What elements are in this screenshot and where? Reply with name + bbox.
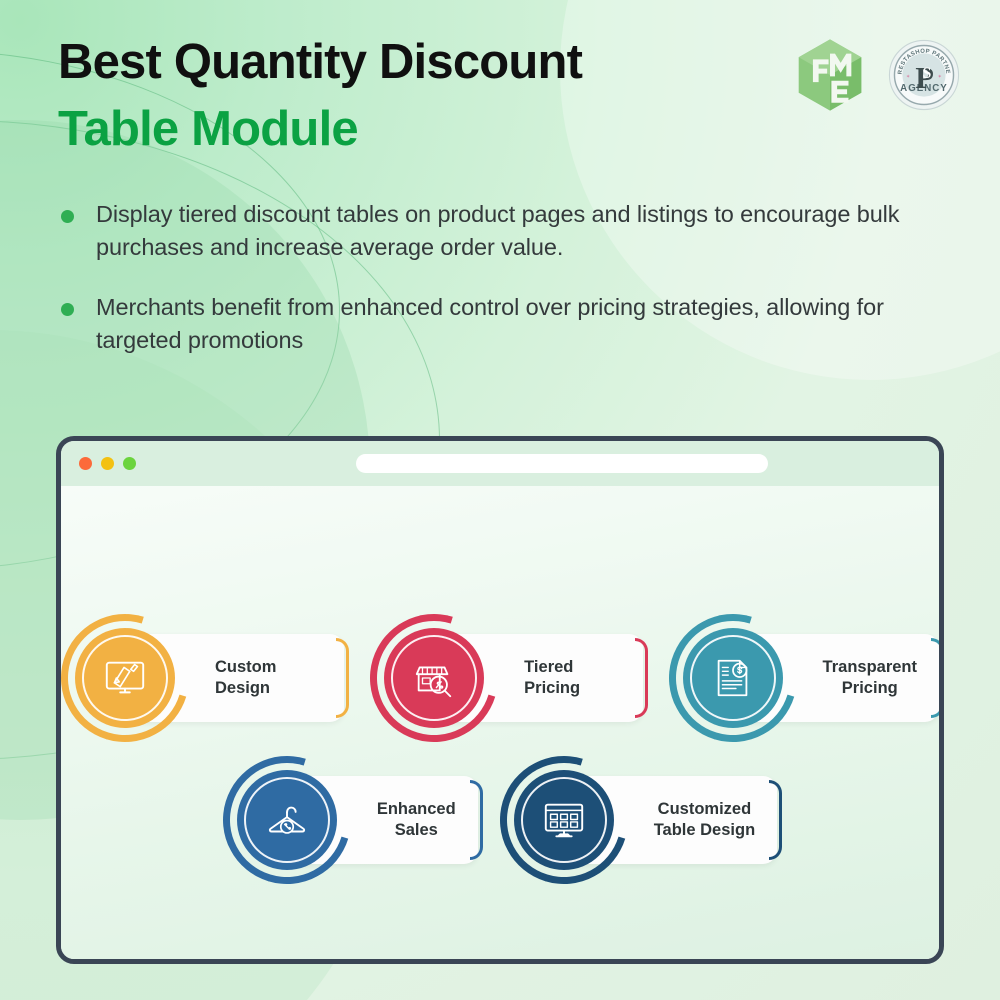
- title-line-1: Best Quantity Discount: [58, 38, 758, 87]
- svg-text:S: S: [923, 65, 932, 82]
- page-title: Best Quantity Discount Table Module: [58, 38, 758, 154]
- hanger-discount-icon: [237, 770, 337, 870]
- bullet-dot-icon: [61, 210, 74, 223]
- fme-cube-logo: [794, 38, 866, 112]
- feature-card-customized-table-design[interactable]: Customized Table Design: [500, 756, 777, 884]
- browser-content: Custom Design: [61, 486, 939, 959]
- feature-row-2: Enhanced Sales: [61, 756, 939, 884]
- maximize-dot-icon[interactable]: [123, 457, 136, 470]
- feature-label: Tiered Pricing: [524, 657, 620, 699]
- feature-label: Customized Table Design: [654, 799, 755, 841]
- list-item: Display tiered discount tables on produc…: [58, 198, 938, 265]
- prestashop-partner-agency-badge: PRESTASHOP PARTNER ✶ ✶ AGENCY P S: [888, 39, 960, 111]
- feature-row-1: Custom Design: [61, 614, 939, 742]
- list-item: Merchants benefit from enhanced control …: [58, 291, 938, 358]
- invoice-dollar-icon: [683, 628, 783, 728]
- browser-window-mockup: Custom Design: [56, 436, 944, 964]
- feature-badge: [61, 614, 189, 742]
- traffic-lights: [79, 457, 136, 470]
- feature-label: Transparent Pricing: [823, 657, 917, 699]
- feature-grid: Custom Design: [61, 486, 939, 884]
- logo-group: PRESTASHOP PARTNER ✶ ✶ AGENCY P S: [794, 38, 960, 112]
- feature-label: Enhanced Sales: [377, 799, 456, 841]
- feature-badge: [223, 756, 351, 884]
- feature-badge: [370, 614, 498, 742]
- browser-titlebar: [61, 441, 939, 486]
- feature-badge: [500, 756, 628, 884]
- feature-card-tiered-pricing[interactable]: Tiered Pricing: [370, 614, 642, 742]
- bullet-dot-icon: [61, 303, 74, 316]
- title-line-2: Table Module: [58, 105, 758, 154]
- close-dot-icon[interactable]: [79, 457, 92, 470]
- svg-text:✶: ✶: [938, 74, 942, 80]
- bullet-text: Display tiered discount tables on produc…: [96, 201, 899, 260]
- shop-magnifier-icon: [384, 628, 484, 728]
- feature-card-enhanced-sales[interactable]: Enhanced Sales: [223, 756, 478, 884]
- minimize-dot-icon[interactable]: [101, 457, 114, 470]
- monitor-table-icon: [514, 770, 614, 870]
- bullet-list: Display tiered discount tables on produc…: [58, 198, 938, 383]
- feature-card-custom-design[interactable]: Custom Design: [61, 614, 344, 742]
- feature-label: Custom Design: [215, 657, 322, 699]
- feature-badge: [669, 614, 797, 742]
- promo-banner: Best Quantity Discount Table Module: [0, 0, 1000, 1000]
- monitor-design-icon: [75, 628, 175, 728]
- svg-text:✶: ✶: [906, 74, 910, 80]
- bullet-text: Merchants benefit from enhanced control …: [96, 294, 884, 353]
- feature-card-transparent-pricing[interactable]: Transparent Pricing: [669, 614, 939, 742]
- address-bar-input[interactable]: [356, 454, 768, 473]
